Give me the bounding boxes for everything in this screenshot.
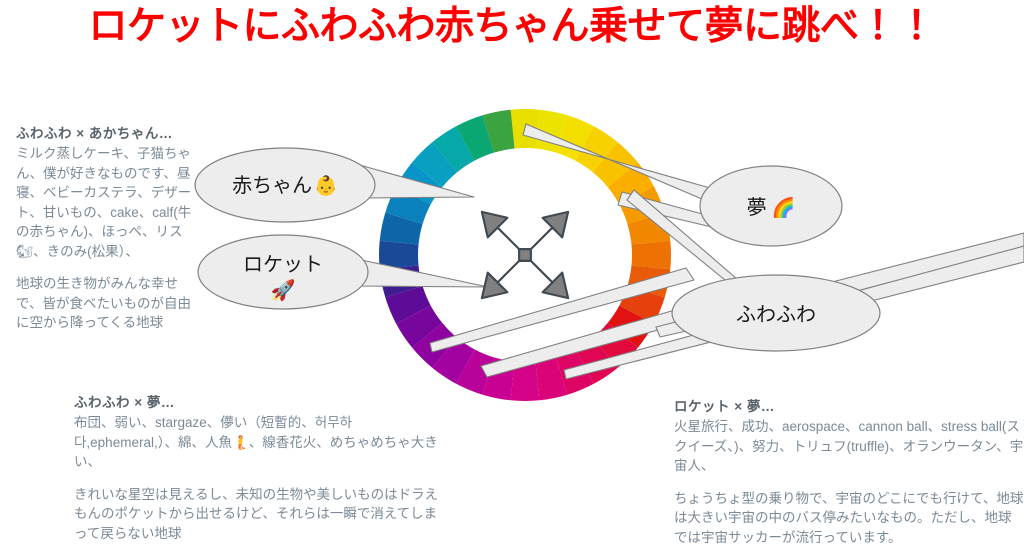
slide-canvas: ロケットにふわふわ赤ちゃん乗せて夢に跳べ！！ bbox=[0, 0, 1024, 541]
callout-akachan[interactable]: 赤ちゃん👶 bbox=[195, 148, 375, 222]
block-heading: ふわふわ × 夢… bbox=[74, 392, 444, 413]
baby-emoji: 👶 bbox=[314, 174, 338, 197]
tail-rocket bbox=[352, 258, 488, 287]
callout-fuwafuwa-label: ふわふわ bbox=[736, 304, 816, 326]
callout-yume[interactable]: 夢🌈 bbox=[700, 166, 842, 246]
text-block-fuwafuwa-yume: ふわふわ × 夢… 布団、弱い、stargaze、儚い（短暫的、허무하다,eph… bbox=[74, 392, 444, 543]
block-body: 布団、弱い、stargaze、儚い（短暫的、허무하다,ephemeral,）、綿… bbox=[74, 413, 444, 472]
block-heading: ふわふわ × あかちゃん… bbox=[16, 124, 202, 144]
callout-yume-label: 夢🌈 bbox=[747, 196, 796, 219]
block-note: きれいな星空は見えるし、未知の生物や美しいものはドラえもんのポケットから出せるけ… bbox=[74, 485, 444, 544]
four-way-arrow-icon bbox=[482, 212, 568, 298]
callout-akachan-label: 赤ちゃん👶 bbox=[232, 174, 338, 197]
rainbow-emoji: 🌈 bbox=[772, 196, 796, 219]
text-block-fuwafuwa-akachan: ふわふわ × あかちゃん… ミルク蒸しケーキ、子猫ちゃん、僕が好きなものです、昼… bbox=[16, 124, 202, 333]
callout-rocket[interactable]: ロケット 🚀 bbox=[198, 235, 368, 309]
text-block-rocket-yume: ロケット × 夢… 火星旅行、成功、aerospace、cannon ball、… bbox=[674, 396, 1024, 547]
block-heading: ロケット × 夢… bbox=[674, 396, 1024, 417]
callout-rocket-label: ロケット bbox=[243, 254, 323, 276]
callout-fuwafuwa[interactable]: ふわふわ bbox=[672, 275, 880, 351]
rocket-emoji: 🚀 bbox=[271, 278, 296, 302]
block-body: ミルク蒸しケーキ、子猫ちゃん、僕が好きなものです、昼寝、ベビーカステラ、デザート… bbox=[16, 144, 202, 261]
block-body: 火星旅行、成功、aerospace、cannon ball、stress bal… bbox=[674, 417, 1024, 476]
block-note: ちょうちょ型の乗り物で、宇宙のどこにでも行けて、地球は大きい宇宙の中のバス停みた… bbox=[674, 489, 1024, 547]
wheel-segment bbox=[631, 241, 671, 270]
block-note: 地球の生き物がみんな幸せで、皆が食べたいものが自由に空から降ってくる地球 bbox=[16, 274, 202, 333]
